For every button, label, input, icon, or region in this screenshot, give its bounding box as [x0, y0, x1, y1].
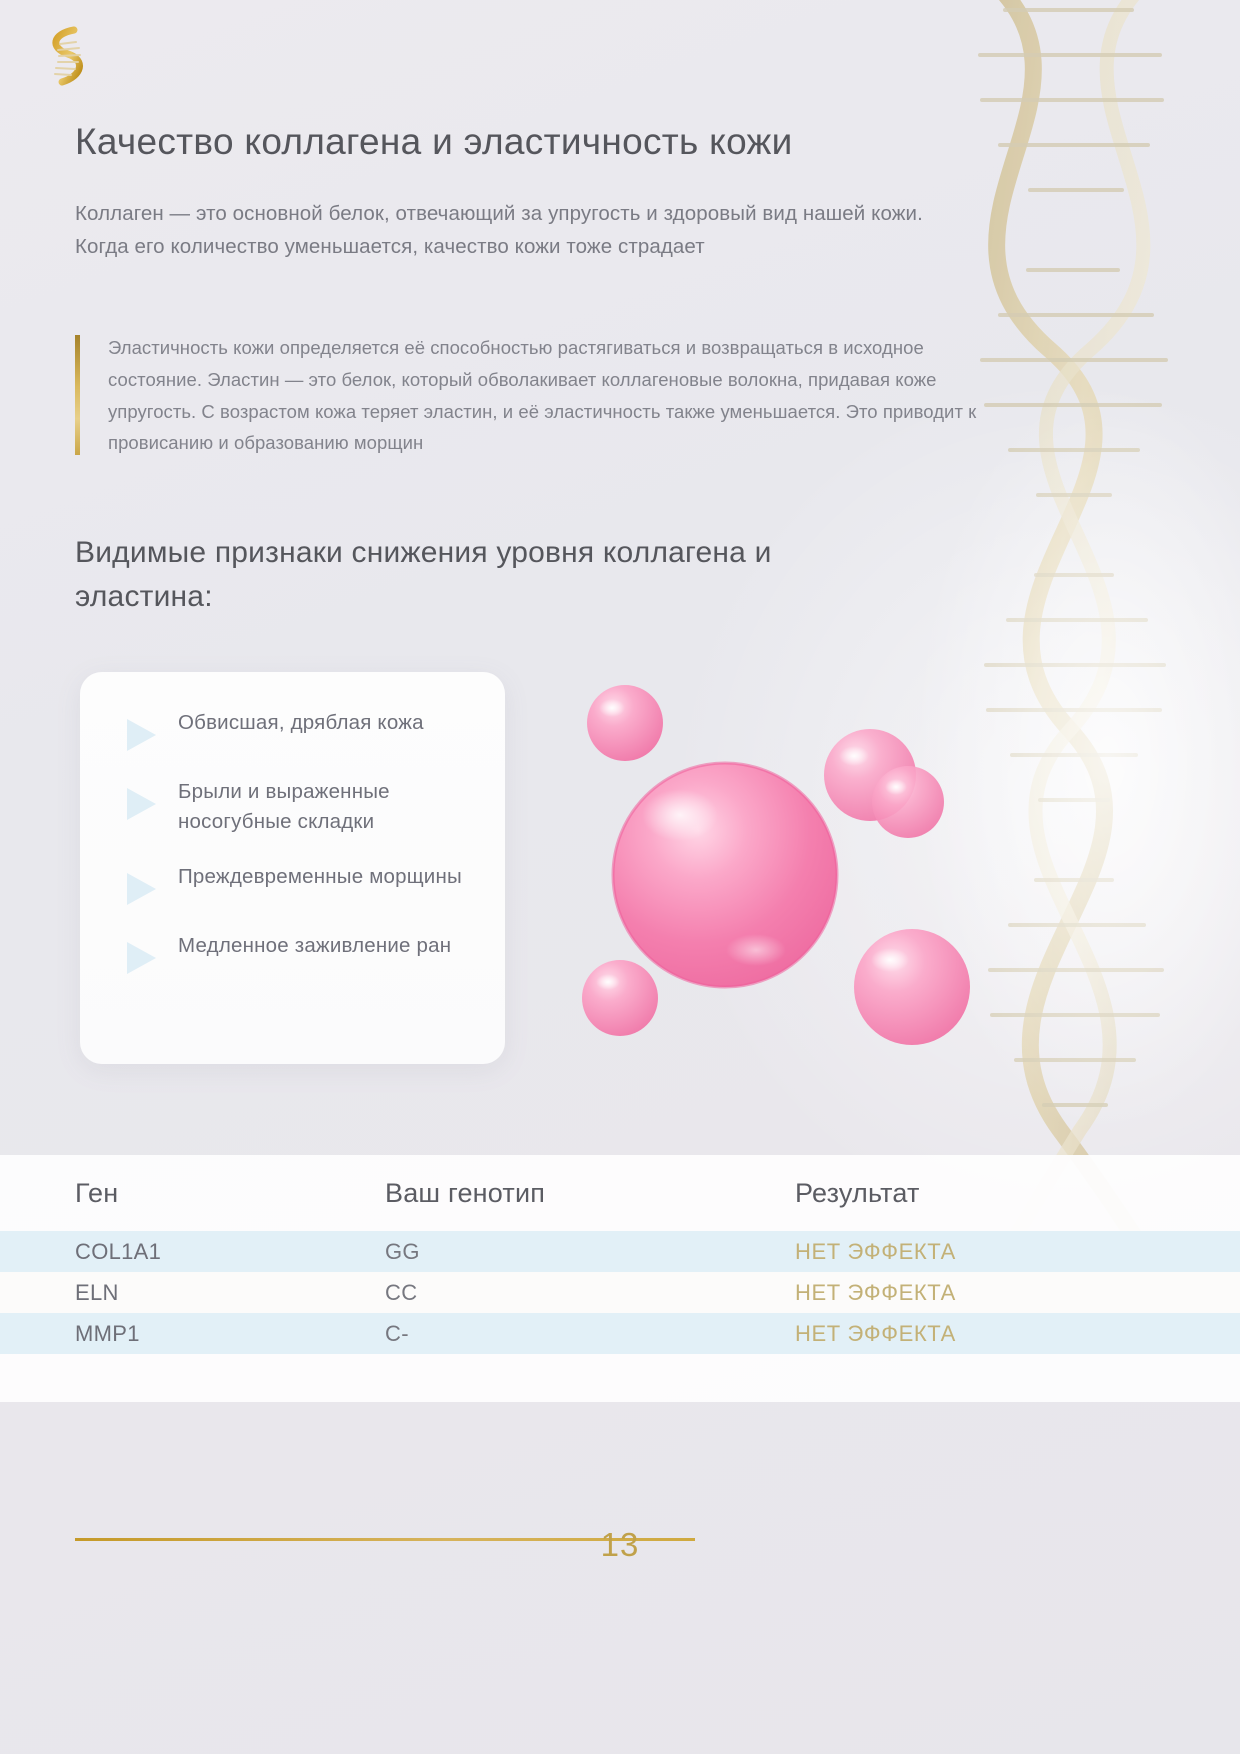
list-item: Медленное заживление ран [102, 931, 479, 974]
cell-genotype: GG [385, 1239, 795, 1265]
page-title: Качество коллагена и эластичность кожи [75, 118, 1025, 165]
elasticity-callout: Эластичность кожи определяется её способ… [75, 332, 980, 459]
list-item: Обвисшая, дряблая кожа [102, 708, 479, 751]
visible-signs-card: Обвисшая, дряблая кожа Брыли и выраженны… [80, 672, 505, 1064]
table-row: COL1A1 GG НЕТ ЭФФЕКТА [0, 1231, 1240, 1272]
cell-result: НЕТ ЭФФЕКТА [795, 1239, 1165, 1265]
page-number: 13 [0, 1526, 1240, 1564]
list-item: Брыли и выраженные носогубные складки [102, 777, 479, 836]
table-row: MMP1 C- НЕТ ЭФФЕКТА [0, 1313, 1240, 1354]
column-header-genotype: Ваш генотип [385, 1178, 795, 1209]
cell-gene: ELN [75, 1280, 385, 1306]
lead-paragraph: Коллаген — это основной белок, отвечающи… [75, 197, 975, 263]
list-item-label: Брыли и выраженные носогубные складки [178, 777, 473, 836]
list-item-label: Обвисшая, дряблая кожа [178, 708, 424, 738]
elasticity-callout-text: Эластичность кожи определяется её способ… [108, 337, 976, 453]
list-item: Преждевременные морщины [102, 862, 479, 905]
dna-helix-icon [34, 22, 96, 92]
triangle-right-icon [127, 719, 156, 751]
cell-genotype: C- [385, 1321, 795, 1347]
column-header-result: Результат [795, 1178, 1165, 1209]
cell-result: НЕТ ЭФФЕКТА [795, 1321, 1165, 1347]
list-item-label: Преждевременные морщины [178, 862, 462, 892]
list-item-label: Медленное заживление ран [178, 931, 451, 961]
table-header-row: Ген Ваш генотип Результат [0, 1155, 1240, 1231]
genotype-results-table: Ген Ваш генотип Результат COL1A1 GG НЕТ … [0, 1155, 1240, 1402]
triangle-right-icon [127, 788, 156, 820]
column-header-gene: Ген [75, 1178, 385, 1209]
cell-gene: MMP1 [75, 1321, 385, 1347]
cell-result: НЕТ ЭФФЕКТА [795, 1280, 1165, 1306]
signs-section-title: Видимые признаки снижения уровня коллаге… [75, 531, 905, 618]
table-footer-spacer [0, 1354, 1240, 1402]
triangle-right-icon [127, 873, 156, 905]
cell-gene: COL1A1 [75, 1239, 385, 1265]
gold-accent-bar [75, 335, 80, 455]
triangle-right-icon [127, 942, 156, 974]
cell-genotype: CC [385, 1280, 795, 1306]
table-row: ELN CC НЕТ ЭФФЕКТА [0, 1272, 1240, 1313]
